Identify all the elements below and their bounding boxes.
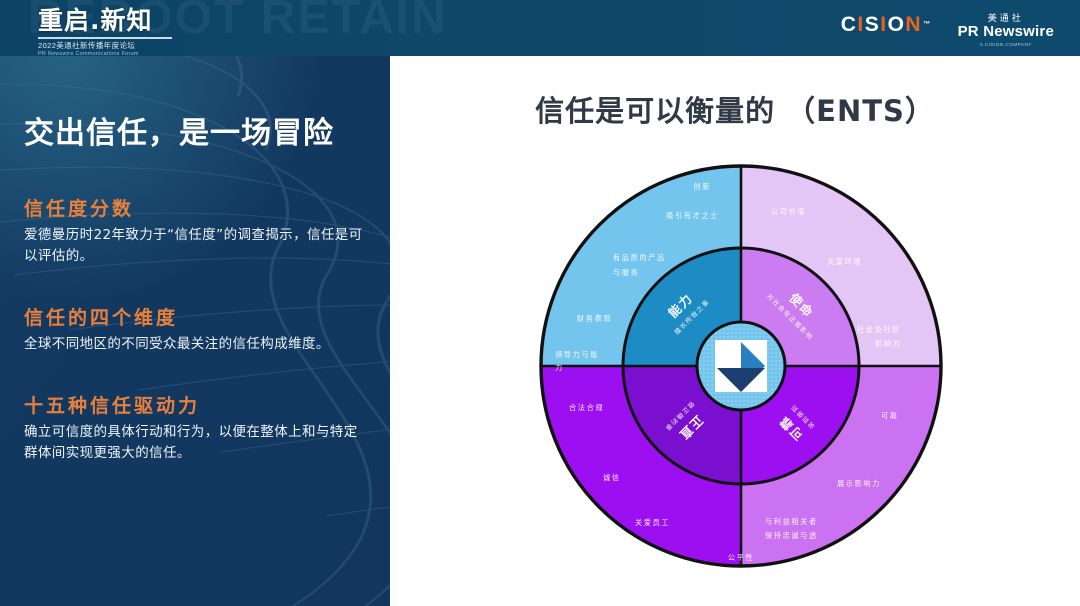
right-white-panel: 信任是可以衡量的 （ENTS） xyxy=(390,56,1080,606)
trust-wheel-diagram: 创新 吸引有才之士 有品质的产品 与服务 财务表现 领导力与能 力 公司价值 关… xyxy=(535,160,947,572)
outer-label-quality-products-line1: 有品质的产品 xyxy=(613,253,666,262)
page-title: 交出信任，是一场冒险 xyxy=(24,108,366,152)
outer-label-community-line1: 社会及社区 xyxy=(857,325,901,334)
prnewswire-en: PR Newswire xyxy=(958,24,1054,41)
outer-label-fairness: 公平性 xyxy=(728,553,754,562)
left-content-column: 交出信任，是一场冒险 信任度分数 爱德曼历时22年致力于“信任度”的调查揭示，信… xyxy=(0,56,390,606)
info-block-fifteen-drivers: 十五种信任驱动力 确立可信度的具体行动和行为，以便在整体上和与特定群体间实现更强… xyxy=(24,391,366,464)
outer-label-stakeholder-line1: 与利益相关者 xyxy=(765,517,818,526)
outer-label-company-value: 公司价值 xyxy=(771,207,806,216)
outer-label-community-line2: 影响力 xyxy=(875,339,901,348)
outer-label-attract-talent: 吸引有才之士 xyxy=(666,211,719,220)
cision-letter-c: C xyxy=(841,14,858,35)
outer-label-leadership-line1: 领导力与能 xyxy=(555,350,599,359)
outer-label-stakeholder-line3: 明 xyxy=(855,545,864,554)
slide-root: REBOOT RETAIN 重启.新知 2022美通社新传播年度论坛 PR Ne… xyxy=(0,0,1080,606)
cision-letter-o: O xyxy=(888,14,906,35)
info-block-body: 全球不同地区的不同受众最关注的信任构成维度。 xyxy=(24,334,366,355)
cision-logo: CISION™ xyxy=(841,14,932,35)
info-block-heading: 信任度分数 xyxy=(24,194,366,221)
forum-logo-subtitle-cn: 2022美通社新传播年度论坛 xyxy=(38,41,218,50)
outer-label-care-employees: 关爱员工 xyxy=(635,518,670,527)
info-block-body: 爱德曼历时22年致力于“信任度”的调查揭示，信任是可以评估的。 xyxy=(24,225,366,267)
outer-label-stakeholder-line2: 保持忠诚与透 xyxy=(765,531,818,540)
cision-trademark: ™ xyxy=(923,21,932,28)
outer-label-show-impact: 展示影响力 xyxy=(837,479,881,488)
outer-label-quality-products-line2: 与服务 xyxy=(613,268,639,277)
forum-logo: 重启.新知 2022美通社新传播年度论坛 PR Newswire Communi… xyxy=(38,8,218,58)
prnewswire-tagline: A CISION COMPANY xyxy=(958,42,1054,47)
outer-label-leadership-line2: 力 xyxy=(555,363,564,372)
outer-label-compliance: 合法合规 xyxy=(569,403,604,412)
cision-letter-i2: I xyxy=(880,14,887,35)
diagram-title: 信任是可以衡量的 （ENTS） xyxy=(390,88,1080,130)
brand-logo-row: CISION™ 美通社 PR Newswire A CISION COMPANY xyxy=(841,14,1054,47)
info-block-heading: 十五种信任驱动力 xyxy=(24,391,366,418)
info-block-trust-score: 信任度分数 爱德曼历时22年致力于“信任度”的调查揭示，信任是可以评估的。 xyxy=(24,194,366,267)
cision-letter-i: I xyxy=(857,14,864,35)
edelman-logo xyxy=(697,322,785,410)
outer-label-reliable: 可靠 xyxy=(881,411,899,420)
info-block-heading: 信任的四个维度 xyxy=(24,303,366,330)
info-block-four-dimensions: 信任的四个维度 全球不同地区的不同受众最关注的信任构成维度。 xyxy=(24,303,366,355)
outer-label-innovation: 创新 xyxy=(693,182,711,191)
outer-label-financial-performance: 财务表现 xyxy=(577,314,612,323)
forum-logo-title: 重启.新知 xyxy=(38,8,218,34)
outer-label-environment: 关爱环境 xyxy=(827,257,862,266)
prnewswire-logo: 美通社 PR Newswire A CISION COMPANY xyxy=(958,14,1054,47)
cision-letter-n: N xyxy=(905,14,922,35)
info-block-body: 确立可信度的具体行动和行为，以便在整体上和与特定群体间实现更强大的信任。 xyxy=(24,422,366,464)
forum-logo-rule xyxy=(38,37,172,39)
outer-label-honesty: 诚信 xyxy=(603,473,621,482)
cision-letter-s: S xyxy=(865,14,881,35)
